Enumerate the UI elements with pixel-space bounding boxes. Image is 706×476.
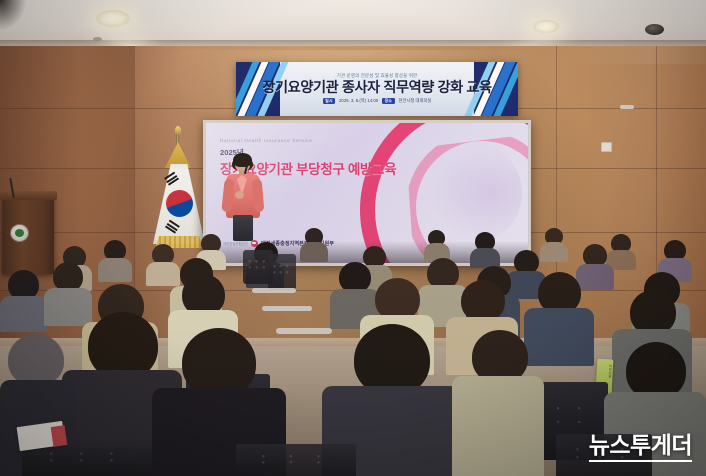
ceiling-light (533, 20, 559, 33)
watermark: 뉴스투게더 (589, 434, 692, 462)
attendee (300, 228, 328, 260)
slide-english-line: National Health Insurance Service (220, 139, 518, 144)
handout-accent (51, 425, 68, 447)
attendee (470, 232, 500, 266)
banner-datetime: 2025. 3. 6.(목) 14:00 (339, 98, 378, 104)
attendee (452, 330, 544, 476)
banner-time-badge: 일시 (323, 98, 335, 104)
ceiling-light (96, 10, 130, 27)
chair (268, 254, 296, 290)
banner-place: 천안시청 대회의실 (399, 98, 432, 104)
wall-outlet-icon (601, 142, 612, 152)
attendee (0, 270, 48, 330)
podium-top (0, 191, 57, 200)
presenter-hand (235, 191, 244, 199)
banner-meta: 일시 2025. 3. 6.(목) 14:00 장소 천안시청 대회의실 (323, 98, 432, 104)
chair-arm (262, 306, 312, 311)
presenter-arm (252, 179, 265, 213)
conference-photo: 기관 운영의 전문성 및 효율성 향상을 위한 장기요양기관 종사자 직무역량 … (0, 0, 706, 476)
event-banner: 기관 운영의 전문성 및 효율성 향상을 위한 장기요양기관 종사자 직무역량 … (236, 62, 518, 116)
smoke-detector-icon (93, 37, 102, 41)
slide-year: 2025년 (220, 149, 518, 157)
attendee (98, 240, 132, 280)
banner-kicker: 기관 운영의 전문성 및 효율성 향상을 위한 (337, 74, 418, 78)
attendee (424, 230, 450, 260)
corner-shadow (0, 0, 26, 30)
taeguk-icon (166, 190, 193, 217)
ceiling-speaker-icon (645, 24, 664, 35)
wall-sensor-icon (620, 105, 634, 109)
slide-title: 장기요양기관 부당청구 예방교육 (220, 163, 518, 177)
banner-place-badge: 장소 (382, 98, 394, 104)
chair-arm (252, 288, 296, 293)
banner-title: 장기요양기관 종사자 직무역량 강화 교육 (262, 81, 491, 95)
chair (236, 444, 356, 476)
presenter-hair-top (233, 153, 252, 167)
